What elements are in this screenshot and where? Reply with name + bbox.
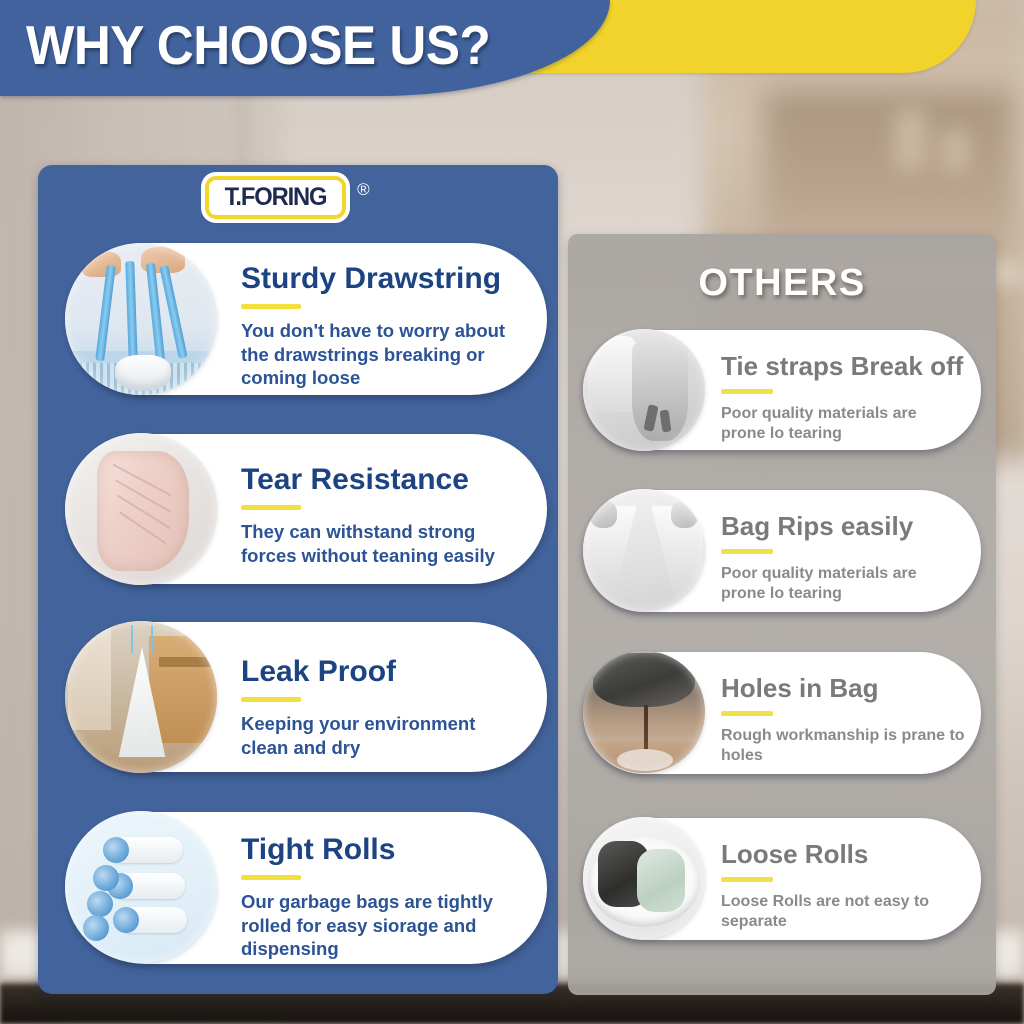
card-title: Bag Rips easily	[721, 512, 965, 540]
others-card-bag-rips-easily[interactable]: Bag Rips easily Poor quality materials a…	[583, 490, 981, 612]
others-title: OTHERS	[568, 262, 996, 305]
card-description: You don't have to worry about the drawst…	[241, 319, 525, 389]
title-accent-bar	[721, 877, 773, 882]
title-accent-bar	[721, 711, 773, 716]
title-accent-bar	[721, 389, 773, 394]
thumbnail-leaking-black-bag	[583, 651, 705, 773]
card-title: Tight Rolls	[241, 834, 525, 866]
card-description: They can withstand strong forces without…	[241, 520, 525, 567]
title-accent-bar	[241, 875, 301, 880]
logo-text: T.FORING	[225, 184, 327, 210]
ours-card-tight-rolls[interactable]: Tight Rolls Our garbage bags are tightly…	[69, 812, 547, 964]
ours-card-leak-proof[interactable]: Leak Proof Keeping your environment clea…	[69, 622, 547, 772]
logo-plate: T.FORING	[205, 176, 346, 219]
thumbnail-hands-ripping-bag	[583, 489, 705, 611]
others-card-tie-straps-break-off[interactable]: Tie straps Break off Poor quality materi…	[583, 330, 981, 450]
card-description: Loose Rolls are not easy to separate	[721, 892, 965, 933]
ours-card-sturdy-drawstring[interactable]: Sturdy Drawstring You don't have to worr…	[69, 243, 547, 395]
card-title: Leak Proof	[241, 656, 525, 688]
others-card-loose-rolls[interactable]: Loose Rolls Loose Rolls are not easy to …	[583, 818, 981, 940]
title-accent-bar	[721, 549, 773, 554]
card-title: Sturdy Drawstring	[241, 263, 525, 295]
card-title: Tear Resistance	[241, 464, 525, 496]
thumbnail-stretched-bag-material	[65, 433, 217, 585]
thumbnail-white-bag-hanging	[65, 621, 217, 773]
card-description: Poor quality materials are prone lo tear…	[721, 564, 965, 605]
ours-card-tear-resistance[interactable]: Tear Resistance They can withstand stron…	[69, 434, 547, 584]
thumbnail-person-carrying-torn-bag	[583, 329, 705, 451]
card-description: Our garbage bags are tightly rolled for …	[241, 890, 525, 960]
title-accent-bar	[241, 304, 301, 309]
page-title: WHY CHOOSE US?	[26, 14, 490, 76]
card-title: Holes in Bag	[721, 674, 965, 702]
card-description: Poor quality materials are prone lo tear…	[721, 404, 965, 445]
title-accent-bar	[241, 505, 301, 510]
card-description: Rough workmanship is prane to holes	[721, 726, 965, 767]
thumbnail-stacked-bag-rolls	[65, 811, 217, 963]
thumbnail-hands-pulling-blue-drawstrings	[65, 243, 217, 395]
thumbnail-loose-rolls	[583, 817, 705, 939]
brand-logo: T.FORING ®	[205, 176, 370, 219]
infographic-page: WHY CHOOSE US? T.FORING ® Sturdy Drawstr…	[0, 0, 1024, 1024]
others-card-holes-in-bag[interactable]: Holes in Bag Rough workmanship is prane …	[583, 652, 981, 774]
title-accent-bar	[241, 697, 301, 702]
registered-trademark-icon: ®	[357, 180, 370, 200]
card-title: Loose Rolls	[721, 840, 965, 868]
card-title: Tie straps Break off	[721, 352, 965, 380]
card-description: Keeping your environment clean and dry	[241, 712, 525, 759]
